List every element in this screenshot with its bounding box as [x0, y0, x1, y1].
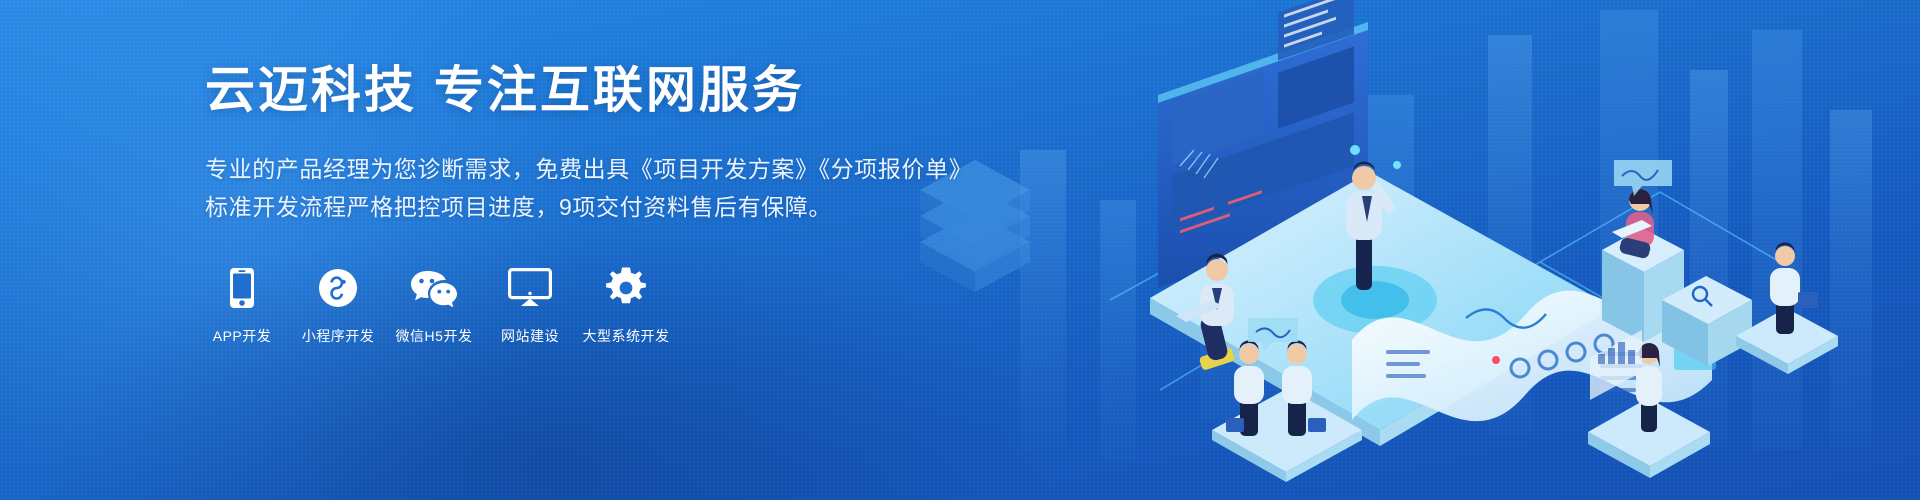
banner-subtitle: 专业的产品经理为您诊断需求，免费出具《项目开发方案》《分项报价单》 标准开发流程…: [205, 150, 1105, 226]
wechat-icon: [410, 266, 458, 310]
service-label-large-system: 大型系统开发: [583, 326, 670, 346]
monitor-icon: [508, 266, 552, 310]
gear-icon: [605, 266, 647, 310]
service-item-miniprogram[interactable]: 小程序开发: [301, 266, 375, 346]
service-label-wechat-h5: 微信H5开发: [396, 326, 473, 346]
subtitle-line-1: 专业的产品经理为您诊断需求，免费出具《项目开发方案》《分项报价单》: [205, 150, 1105, 188]
service-label-website: 网站建设: [501, 326, 559, 346]
page-title: 云迈科技 专注互联网服务: [205, 60, 1105, 120]
service-item-large-system[interactable]: 大型系统开发: [589, 266, 663, 346]
mini-program-icon: [318, 266, 358, 310]
hero-banner: 云迈科技 专注互联网服务 专业的产品经理为您诊断需求，免费出具《项目开发方案》《…: [0, 0, 1920, 500]
service-item-wechat-h5[interactable]: 微信H5开发: [397, 266, 471, 346]
subtitle-line-2: 标准开发流程严格把控项目进度，9项交付资料售后有保障。: [205, 188, 1105, 226]
service-label-app: APP开发: [213, 326, 272, 346]
service-item-website[interactable]: 网站建设: [493, 266, 567, 346]
mobile-phone-icon: [229, 266, 255, 310]
service-list: APP开发 小程序开发: [205, 266, 1105, 346]
service-label-miniprogram: 小程序开发: [302, 326, 375, 346]
banner-content: 云迈科技 专注互联网服务 专业的产品经理为您诊断需求，免费出具《项目开发方案》《…: [205, 60, 1105, 346]
service-item-app[interactable]: APP开发: [205, 266, 279, 346]
